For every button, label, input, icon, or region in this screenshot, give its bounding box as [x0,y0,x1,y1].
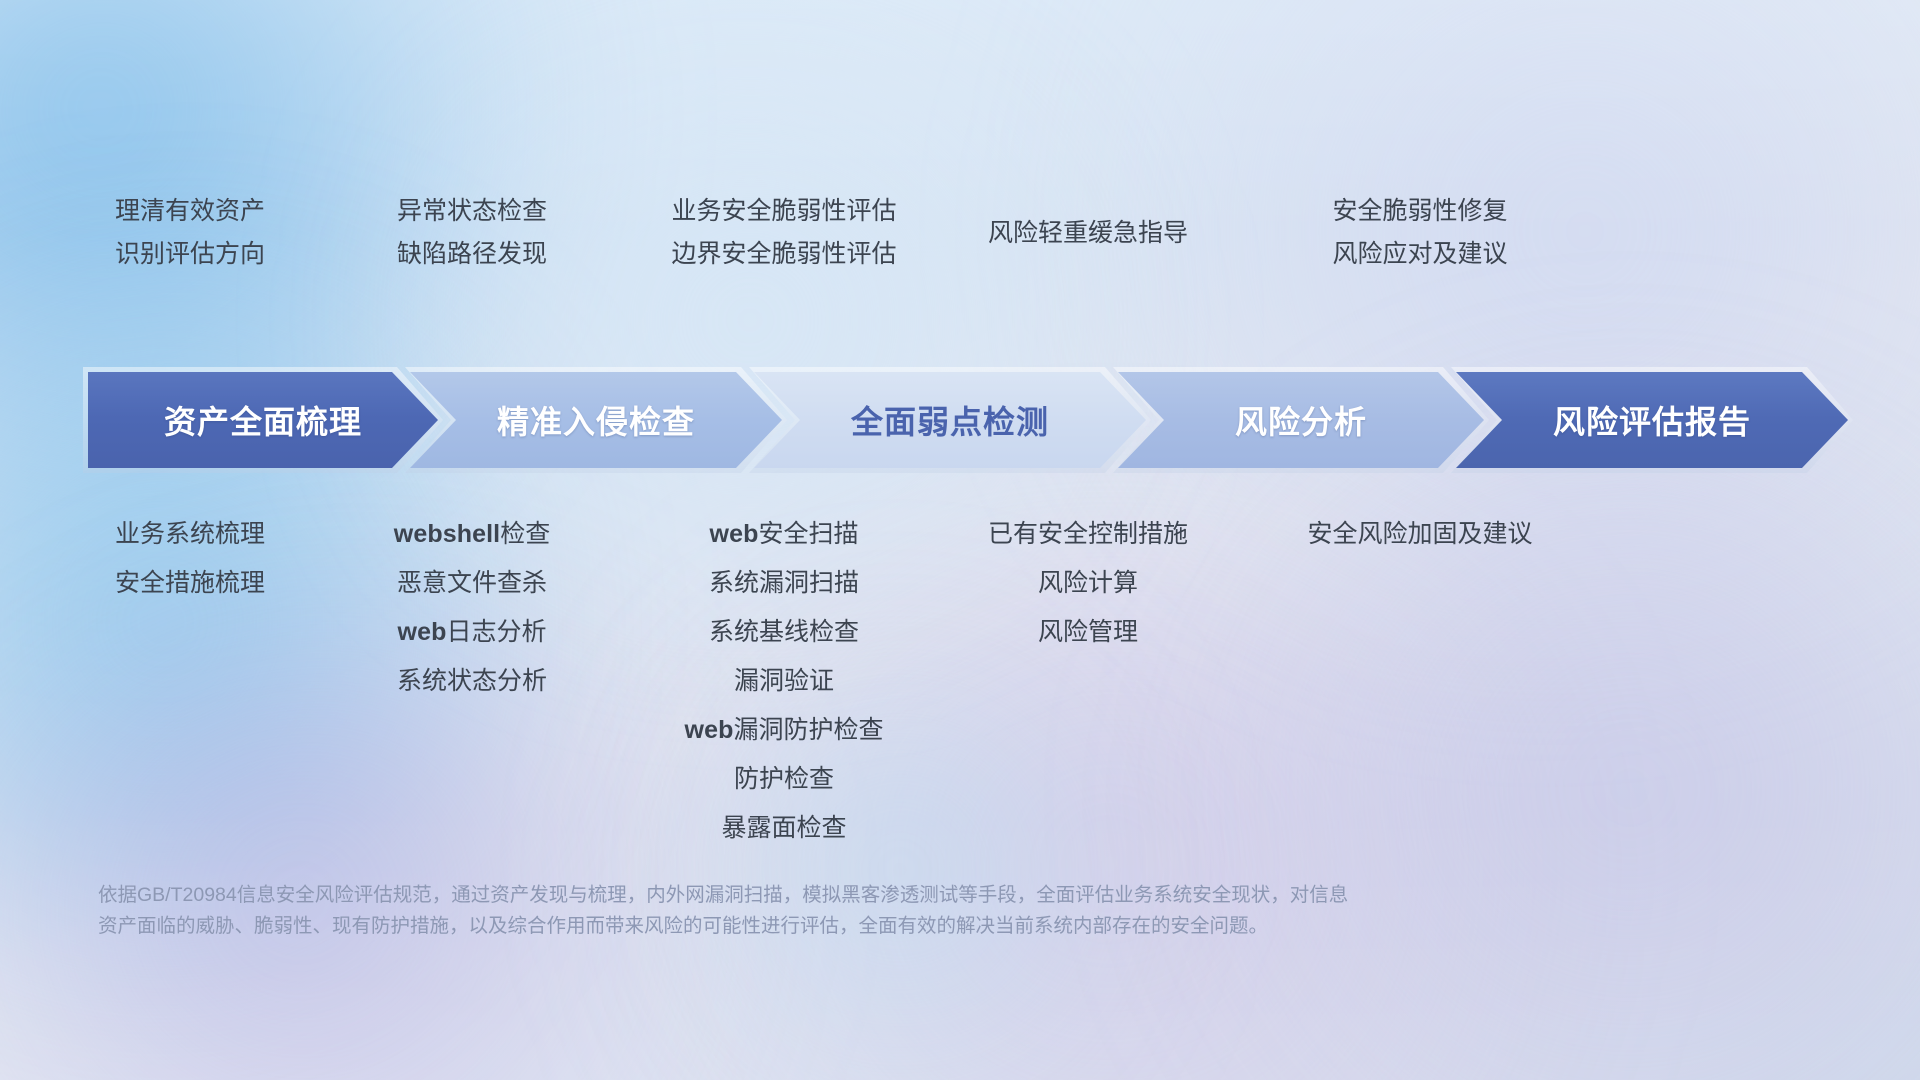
list-item: web漏洞防护检查 [612,706,956,755]
item-text: 业务系统梳理 [115,520,265,548]
stage-top-notes-1: 理清有效资产 识别评估方向 [48,190,332,276]
item-text: 检查 [500,520,550,548]
stage-chevron-intrusion-check[interactable]: 精准入侵检查 [410,372,782,468]
item-text: 已有安全控制措施 [988,520,1188,548]
stage-label: 全面弱点检测 [851,397,1049,443]
item-text: 系统状态分析 [397,667,547,695]
process-stage-band: 资产全面梳理 精准入侵检查 全面弱点检测 风险分析 风险评估报告 [88,372,1848,468]
item-text: 防护检查 [734,765,834,793]
footer-description: 依据GB/T20984信息安全风险评估规范，通过资产发现与梳理，内外网漏洞扫描，… [98,880,1718,942]
item-lead: web [710,520,759,548]
item-text: 恶意文件查杀 [397,569,547,597]
note-text: 识别评估方向 [48,233,332,276]
stage-top-notes-2: 异常状态检查 缺陷路径发现 [330,190,614,276]
note-text: 缺陷路径发现 [330,233,614,276]
stage-detail-list-3: web安全扫描 系统漏洞扫描 系统基线检查 漏洞验证 web漏洞防护检查 防护检… [612,510,956,853]
item-text: 系统基线检查 [709,618,859,646]
list-item: 安全风险加固及建议 [1248,510,1592,559]
note-text: 业务安全脆弱性评估 [612,190,956,233]
list-item: 系统状态分析 [330,657,614,706]
list-item: webshell检查 [330,510,614,559]
stage-top-notes-4: 风险轻重缓急指导 [930,212,1246,255]
stage-detail-list-1: 业务系统梳理 安全措施梳理 [48,510,332,608]
stage-detail-list-4: 已有安全控制措施 风险计算 风险管理 [930,510,1246,657]
note-text: 理清有效资产 [48,190,332,233]
list-item: 已有安全控制措施 [930,510,1246,559]
list-item: 风险计算 [930,559,1246,608]
note-text: 边界安全脆弱性评估 [612,233,956,276]
list-item: 业务系统梳理 [48,510,332,559]
list-item: 暴露面检查 [612,804,956,853]
stage-top-notes-5: 安全脆弱性修复 风险应对及建议 [1248,190,1592,276]
stage-top-notes-3: 业务安全脆弱性评估 边界安全脆弱性评估 [612,190,956,276]
item-text: 风险计算 [1038,569,1138,597]
item-lead: web [685,716,734,744]
list-item: 风险管理 [930,608,1246,657]
stage-label: 风险评估报告 [1553,397,1751,443]
stage-label: 资产全面梳理 [164,397,362,443]
item-text: 安全措施梳理 [115,569,265,597]
list-item: 安全措施梳理 [48,559,332,608]
stage-chevron-risk-report[interactable]: 风险评估报告 [1456,372,1848,468]
process-diagram: 理清有效资产 识别评估方向 异常状态检查 缺陷路径发现 业务安全脆弱性评估 边界… [0,0,1920,1080]
stage-detail-list-2: webshell检查 恶意文件查杀 web日志分析 系统状态分析 [330,510,614,706]
list-item: 系统基线检查 [612,608,956,657]
item-lead: web [398,618,447,646]
item-text: 系统漏洞扫描 [709,569,859,597]
item-text: 漏洞验证 [734,667,834,695]
item-text: 日志分析 [446,618,546,646]
stage-detail-list-5: 安全风险加固及建议 [1248,510,1592,559]
list-item: 系统漏洞扫描 [612,559,956,608]
list-item: web安全扫描 [612,510,956,559]
note-text: 风险轻重缓急指导 [930,212,1246,255]
note-text: 风险应对及建议 [1248,233,1592,276]
stage-chevron-risk-analysis[interactable]: 风险分析 [1118,372,1484,468]
footer-line-1: 依据GB/T20984信息安全风险评估规范，通过资产发现与梳理，内外网漏洞扫描，… [98,880,1718,911]
stage-chevron-asset-inventory[interactable]: 资产全面梳理 [88,372,438,468]
item-text: 暴露面检查 [721,814,846,842]
note-text: 安全脆弱性修复 [1248,190,1592,233]
list-item: 恶意文件查杀 [330,559,614,608]
stage-label: 风险分析 [1235,397,1367,443]
list-item: web日志分析 [330,608,614,657]
item-lead: webshell [394,520,500,548]
list-item: 防护检查 [612,755,956,804]
list-item: 漏洞验证 [612,657,956,706]
item-text: 风险管理 [1038,618,1138,646]
item-text: 安全扫描 [758,520,858,548]
item-text: 安全风险加固及建议 [1307,520,1532,548]
note-text: 异常状态检查 [330,190,614,233]
stage-label: 精准入侵检查 [497,397,695,443]
item-text: 漏洞防护检查 [733,716,883,744]
stage-chevron-weakness-detection[interactable]: 全面弱点检测 [754,372,1146,468]
footer-line-2: 资产面临的威胁、脆弱性、现有防护措施，以及综合作用而带来风险的可能性进行评估，全… [98,911,1718,942]
